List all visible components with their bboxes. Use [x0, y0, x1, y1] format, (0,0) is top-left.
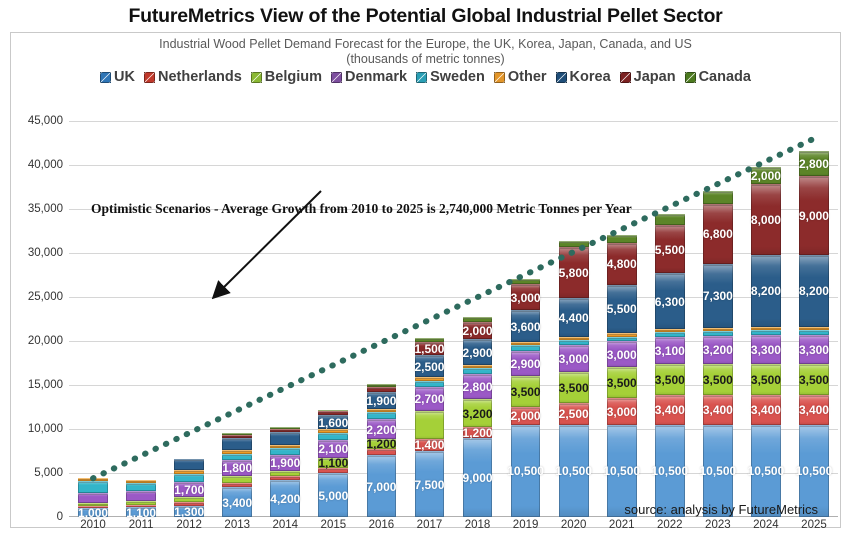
data-label: 3,400	[751, 404, 781, 416]
bar-segment-japan	[318, 411, 348, 415]
data-label: 3,400	[703, 404, 733, 416]
bar-2011[interactable]: 1,100	[126, 480, 156, 517]
bar-segment-sweden	[174, 474, 204, 482]
legend-item-other[interactable]: Other	[494, 69, 547, 85]
data-label: 1,100	[126, 507, 156, 519]
data-label: 3,000	[559, 353, 589, 365]
bar-segment-belgium: 3,200	[463, 399, 493, 427]
data-label: 2,500	[559, 408, 589, 420]
data-label: 3,500	[703, 374, 733, 386]
bar-segment-sweden	[270, 448, 300, 454]
bar-segment-denmark: 1,700	[174, 482, 204, 497]
data-label: 3,000	[607, 406, 637, 418]
bar-segment-denmark: 1,900	[270, 455, 300, 472]
data-label: 9,000	[799, 210, 829, 222]
bar-segment-other	[126, 480, 156, 483]
bar-segment-sweden	[318, 433, 348, 440]
bar-segment-japan: 2,000	[463, 322, 493, 340]
legend-item-sweden[interactable]: Sweden	[416, 69, 485, 85]
bar-segment-belgium: 3,500	[655, 364, 685, 395]
x-axis-tick-label: 2023	[705, 519, 731, 531]
bar-segment-canada	[511, 279, 541, 284]
data-label: 3,400	[222, 497, 252, 509]
bar-2023[interactable]: 10,5003,4003,5003,2007,3006,800	[703, 191, 733, 517]
bar-segment-denmark: 2,100	[318, 440, 348, 458]
data-label: 3,100	[655, 345, 685, 357]
data-label: 5,500	[607, 303, 637, 315]
data-label: 5,800	[559, 267, 589, 279]
bar-segment-other	[703, 328, 733, 332]
data-label: 10,500	[507, 465, 544, 477]
bar-segment-belgium: 1,200	[367, 439, 397, 450]
data-label: 3,600	[511, 321, 541, 333]
bar-segment-denmark: 2,200	[367, 419, 397, 438]
source-note: source: analysis by FutureMetrics	[624, 502, 818, 517]
data-label: 2,200	[366, 424, 396, 436]
data-label: 2,500	[414, 361, 444, 373]
data-label: 1,200	[366, 438, 396, 450]
bar-segment-canada: 2,000	[751, 167, 781, 185]
data-label: 1,700	[174, 484, 204, 496]
x-axis-tick-label: 2020	[561, 519, 587, 531]
data-label: 2,800	[799, 158, 829, 170]
y-axis-tick-label: 15,000	[28, 379, 63, 391]
data-label: 10,500	[699, 465, 736, 477]
data-label: 1,900	[270, 457, 300, 469]
bar-segment-canada: 2,800	[799, 151, 829, 176]
bar-segment-korea: 2,500	[415, 355, 445, 377]
bar-segment-netherlands: 3,400	[799, 395, 829, 425]
bar-segment-japan: 5,500	[655, 225, 685, 273]
bar-segment-sweden	[222, 454, 252, 460]
data-label: 3,500	[559, 382, 589, 394]
chart-subtitle-units: (thousands of metric tonnes)	[11, 52, 840, 67]
bar-segment-canada	[367, 384, 397, 387]
x-axis-tick-label: 2012	[176, 519, 202, 531]
bar-segment-korea	[270, 432, 300, 445]
data-label: 1,200	[463, 427, 493, 439]
legend-swatch-icon	[494, 72, 505, 83]
data-label: 4,400	[559, 312, 589, 324]
bar-segment-sweden	[78, 481, 108, 493]
bar-2016[interactable]: 7,0001,2002,2001,900	[367, 384, 397, 517]
data-label: 2,000	[511, 410, 541, 422]
x-axis-tick-label: 2024	[753, 519, 779, 531]
data-label: 2,700	[414, 393, 444, 405]
bar-segment-other	[559, 337, 589, 341]
data-label: 7,300	[703, 290, 733, 302]
gridline	[69, 165, 838, 166]
legend-item-canada[interactable]: Canada	[685, 69, 751, 85]
bar-segment-other	[415, 377, 445, 381]
bar-segment-uk: 1,000	[78, 508, 108, 517]
x-axis-tick-label: 2015	[321, 519, 347, 531]
bar-segment-uk: 1,300	[174, 506, 204, 517]
legend-item-denmark[interactable]: Denmark	[331, 69, 407, 85]
data-label: 2,900	[511, 358, 541, 370]
gridline	[69, 121, 838, 122]
bar-segment-other	[511, 342, 541, 346]
data-label: 3,200	[703, 344, 733, 356]
bar-2025[interactable]: 10,5003,4003,5003,3008,2009,0002,800	[799, 151, 829, 517]
data-label: 8,200	[799, 285, 829, 297]
bar-segment-korea: 8,200	[799, 255, 829, 327]
bar-segment-sweden	[415, 381, 445, 387]
bar-segment-belgium: 1,100	[318, 458, 348, 468]
bar-2010[interactable]: 1,000	[78, 478, 108, 517]
data-label: 3,300	[751, 344, 781, 356]
x-axis-tick-label: 2010	[80, 519, 106, 531]
legend-label: Netherlands	[158, 69, 242, 85]
bar-segment-denmark: 2,800	[463, 374, 493, 399]
bar-segment-other	[799, 327, 829, 331]
bar-segment-denmark: 3,000	[559, 345, 589, 371]
bar-segment-belgium	[415, 411, 445, 439]
bar-segment-denmark	[78, 493, 108, 503]
y-axis-tick-label: 30,000	[28, 247, 63, 259]
y-axis-tick-label: 0	[57, 511, 63, 523]
x-axis-tick-label: 2017	[417, 519, 443, 531]
chart-annotation: Optimistic Scenarios - Average Growth fr…	[91, 201, 632, 217]
bar-segment-belgium: 3,500	[559, 372, 589, 403]
data-label: 3,200	[463, 408, 493, 420]
legend-item-netherlands[interactable]: Netherlands	[144, 69, 242, 85]
bar-segment-sweden	[463, 368, 493, 374]
data-label: 6,300	[655, 296, 685, 308]
bar-segment-belgium: 3,500	[751, 364, 781, 395]
bar-segment-sweden	[511, 345, 541, 350]
bar-segment-korea: 8,200	[751, 255, 781, 327]
legend-label: UK	[114, 69, 135, 85]
bar-segment-japan: 6,800	[703, 204, 733, 264]
bar-2024[interactable]: 10,5003,4003,5003,3008,2008,0002,000	[751, 167, 781, 517]
data-label: 3,400	[655, 404, 685, 416]
data-label: 3,500	[799, 374, 829, 386]
bar-segment-canada	[607, 235, 637, 243]
chart-frame: Industrial Wood Pellet Demand Forecast f…	[10, 32, 841, 528]
bar-segment-japan: 3,000	[511, 284, 541, 310]
data-label: 10,500	[603, 465, 640, 477]
bar-segment-korea: 4,400	[559, 298, 589, 337]
bar-segment-denmark: 1,800	[222, 460, 252, 476]
page-title: FutureMetrics View of the Potential Glob…	[0, 0, 851, 28]
bar-segment-belgium: 3,500	[703, 364, 733, 395]
x-axis-tick-label: 2022	[657, 519, 683, 531]
y-axis-tick-label: 40,000	[28, 159, 63, 171]
bar-segment-sweden	[751, 330, 781, 334]
data-label: 2,800	[463, 381, 493, 393]
bar-2021[interactable]: 10,5003,0003,5003,0005,5004,800	[607, 235, 637, 517]
bar-segment-denmark: 3,000	[607, 341, 637, 367]
data-label: 1,900	[366, 395, 396, 407]
chart-subtitle: Industrial Wood Pellet Demand Forecast f…	[11, 33, 840, 52]
bar-2015[interactable]: 5,0001,1002,1001,600	[318, 410, 348, 517]
bar-segment-other	[367, 409, 397, 413]
bar-segment-canada	[655, 214, 685, 225]
y-axis-tick-label: 5,000	[34, 467, 63, 479]
data-label: 10,500	[796, 465, 833, 477]
bar-segment-other	[655, 329, 685, 333]
x-axis-tick-label: 2018	[465, 519, 491, 531]
legend-swatch-icon	[144, 72, 155, 83]
data-label: 2,000	[751, 170, 781, 182]
data-label: 3,400	[799, 404, 829, 416]
bar-segment-japan: 8,000	[751, 184, 781, 254]
bar-segment-uk: 3,400	[222, 487, 252, 517]
bar-segment-japan	[367, 387, 397, 392]
bar-segment-other	[78, 478, 108, 481]
bar-segment-netherlands: 3,400	[655, 395, 685, 425]
bar-segment-other	[751, 327, 781, 331]
legend-label: Japan	[634, 69, 676, 85]
bar-segment-japan	[270, 429, 300, 432]
bar-2012[interactable]: 1,3001,700	[174, 459, 204, 517]
legend-label: Denmark	[345, 69, 407, 85]
bar-segment-netherlands: 3,000	[607, 398, 637, 424]
bar-segment-other	[174, 470, 204, 474]
data-label: 2,900	[463, 347, 493, 359]
legend-swatch-icon	[620, 72, 631, 83]
bar-segment-korea: 6,300	[655, 273, 685, 328]
bar-segment-sweden	[559, 340, 589, 345]
bar-segment-sweden	[799, 330, 829, 334]
bar-segment-other	[607, 333, 637, 337]
data-label: 9,000	[463, 472, 493, 484]
bar-segment-canada	[559, 241, 589, 247]
legend-item-korea[interactable]: Korea	[556, 69, 611, 85]
y-axis-tick-label: 25,000	[28, 291, 63, 303]
legend-label: Canada	[699, 69, 751, 85]
legend-swatch-icon	[685, 72, 696, 83]
legend-swatch-icon	[100, 72, 111, 83]
plot-area: 05,00010,00015,00020,00025,00030,00035,0…	[69, 121, 838, 517]
data-label: 10,500	[555, 465, 592, 477]
bar-segment-uk: 10,500	[511, 425, 541, 517]
bar-segment-korea: 1,900	[367, 392, 397, 409]
data-label: 1,500	[414, 343, 444, 355]
bar-segment-sweden	[703, 331, 733, 335]
y-axis-tick-label: 10,000	[28, 423, 63, 435]
data-label: 3,500	[511, 386, 541, 398]
x-axis-tick-label: 2016	[369, 519, 395, 531]
data-label: 3,500	[655, 374, 685, 386]
data-label: 1,000	[78, 507, 108, 519]
bar-segment-belgium	[222, 476, 252, 483]
bar-segment-uk: 9,000	[463, 438, 493, 517]
bar-segment-netherlands: 1,400	[415, 439, 445, 451]
data-label: 3,000	[511, 292, 541, 304]
bar-segment-denmark: 3,300	[799, 335, 829, 364]
data-label: 1,400	[414, 439, 444, 451]
bar-segment-netherlands: 1,200	[463, 427, 493, 438]
bar-segment-korea: 3,600	[511, 310, 541, 342]
bar-segment-uk: 7,000	[367, 455, 397, 517]
bar-segment-denmark: 3,200	[703, 336, 733, 364]
data-label: 3,300	[799, 344, 829, 356]
y-axis-tick-label: 20,000	[28, 335, 63, 347]
legend-label: Korea	[570, 69, 611, 85]
legend-item-uk[interactable]: UK	[100, 69, 135, 85]
x-axis-tick-label: 2014	[272, 519, 298, 531]
bar-segment-uk: 10,500	[559, 425, 589, 517]
bar-segment-other	[222, 450, 252, 454]
bar-segment-other	[463, 365, 493, 369]
data-label: 10,500	[651, 465, 688, 477]
legend-item-belgium[interactable]: Belgium	[251, 69, 322, 85]
legend-swatch-icon	[416, 72, 427, 83]
bar-segment-netherlands: 3,400	[751, 395, 781, 425]
bar-segment-netherlands	[270, 476, 300, 480]
bar-segment-korea: 2,900	[463, 339, 493, 365]
legend-label: Other	[508, 69, 547, 85]
bar-segment-denmark	[126, 491, 156, 502]
legend-swatch-icon	[556, 72, 567, 83]
bar-segment-uk: 4,200	[270, 480, 300, 517]
bar-2018[interactable]: 9,0001,2003,2002,8002,9002,000	[463, 317, 493, 517]
bar-2019[interactable]: 10,5002,0003,5002,9003,6003,000	[511, 279, 541, 517]
data-label: 2,100	[318, 443, 348, 455]
bar-segment-netherlands: 2,500	[559, 403, 589, 425]
bar-2022[interactable]: 10,5003,4003,5003,1006,3005,500	[655, 214, 685, 517]
bar-2014[interactable]: 4,2001,900	[270, 427, 300, 517]
bar-segment-netherlands: 2,000	[511, 407, 541, 425]
data-label: 1,100	[318, 457, 348, 469]
bar-segment-canada	[318, 410, 348, 412]
bar-segment-korea	[222, 438, 252, 450]
bar-segment-sweden	[607, 337, 637, 341]
data-label: 7,500	[414, 479, 444, 491]
bar-segment-korea: 7,300	[703, 264, 733, 328]
bar-segment-uk: 7,500	[415, 451, 445, 517]
data-label: 3,500	[751, 374, 781, 386]
x-axis-tick-label: 2013	[224, 519, 250, 531]
bar-segment-korea: 5,500	[607, 285, 637, 333]
bar-segment-sweden	[367, 412, 397, 419]
bar-segment-korea	[174, 459, 204, 470]
bar-segment-uk: 1,100	[126, 507, 156, 517]
bar-2017[interactable]: 7,5001,4002,7002,5001,500	[415, 338, 445, 517]
bar-segment-belgium	[174, 497, 204, 502]
data-label: 5,500	[655, 244, 685, 256]
data-label: 2,000	[463, 325, 493, 337]
bar-segment-canada	[222, 433, 252, 435]
bar-2013[interactable]: 3,4001,800	[222, 433, 252, 517]
bar-2020[interactable]: 10,5002,5003,5003,0004,4005,800	[559, 241, 589, 517]
bar-segment-korea: 1,600	[318, 415, 348, 429]
x-axis-tick-label: 2021	[609, 519, 635, 531]
bar-segment-sweden	[126, 483, 156, 491]
bar-segment-denmark: 2,700	[415, 387, 445, 411]
data-label: 7,000	[366, 481, 396, 493]
x-axis-labels: 2010201120122013201420152016201720182019…	[69, 519, 838, 537]
data-label: 5,000	[318, 490, 348, 502]
bar-segment-sweden	[655, 332, 685, 336]
bar-segment-japan	[222, 435, 252, 438]
x-axis-tick-label: 2011	[129, 519, 154, 531]
bar-segment-belgium: 3,500	[607, 367, 637, 398]
data-label: 1,300	[174, 506, 204, 518]
bar-segment-uk: 5,000	[318, 473, 348, 517]
bar-segment-canada	[703, 191, 733, 204]
legend-swatch-icon	[251, 72, 262, 83]
data-label: 6,800	[703, 228, 733, 240]
data-label: 3,000	[607, 349, 637, 361]
y-axis-tick-label: 45,000	[28, 115, 63, 127]
y-axis-tick-label: 35,000	[28, 203, 63, 215]
data-label: 8,000	[751, 214, 781, 226]
bar-segment-canada	[270, 427, 300, 429]
legend-swatch-icon	[331, 72, 342, 83]
bar-segment-japan: 4,800	[607, 243, 637, 285]
data-label: 1,800	[222, 462, 252, 474]
bar-segment-belgium: 3,500	[511, 376, 541, 407]
data-label: 3,500	[607, 377, 637, 389]
bar-segment-denmark: 3,300	[751, 335, 781, 364]
data-label: 1,600	[318, 417, 348, 429]
bar-segment-canada	[463, 317, 493, 321]
bar-segment-japan: 1,500	[415, 342, 445, 355]
bar-segment-denmark: 2,900	[511, 351, 541, 377]
data-label: 10,500	[748, 465, 785, 477]
chart-legend: UKNetherlandsBelgiumDenmarkSwedenOtherKo…	[11, 67, 840, 85]
data-label: 4,200	[270, 493, 300, 505]
bar-segment-belgium: 3,500	[799, 364, 829, 395]
x-axis-tick-label: 2019	[513, 519, 539, 531]
bar-segment-japan: 9,000	[799, 176, 829, 255]
bar-segment-netherlands	[222, 483, 252, 487]
x-axis-tick-label: 2025	[801, 519, 827, 531]
bar-segment-belgium	[126, 501, 156, 505]
legend-label: Belgium	[265, 69, 322, 85]
bar-segment-japan: 5,800	[559, 247, 589, 298]
legend-label: Sweden	[430, 69, 485, 85]
bar-segment-denmark: 3,100	[655, 337, 685, 364]
bar-segment-netherlands: 3,400	[703, 395, 733, 425]
bar-segment-belgium	[270, 471, 300, 475]
data-label: 8,200	[751, 285, 781, 297]
bar-segment-other	[270, 445, 300, 449]
data-label: 4,800	[607, 258, 637, 270]
legend-item-japan[interactable]: Japan	[620, 69, 676, 85]
